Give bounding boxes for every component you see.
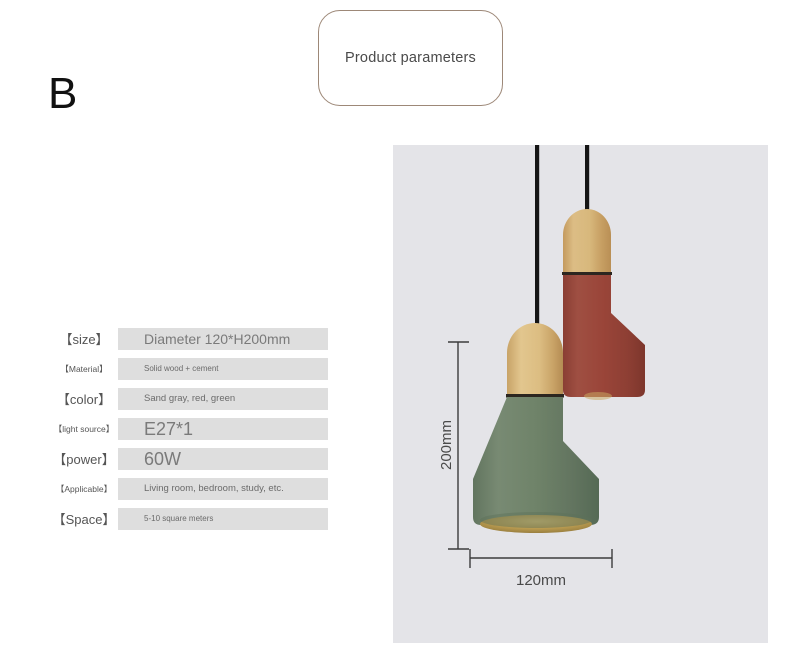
spec-value-color: Sand gray, red, green [144, 394, 235, 404]
red-lamp-reflector-hint [584, 392, 612, 400]
spec-value-bar: Living room, bedroom, study, etc. [118, 478, 328, 500]
spec-label-light-source: 【light source】 [50, 425, 118, 434]
table-row: 【Material】 Solid wood + cement [50, 358, 328, 380]
table-row: 【Applicable】 Living room, bedroom, study… [50, 478, 328, 500]
spec-label-material: 【Material】 [50, 365, 118, 374]
spec-value-bar: Diameter 120*H200mm [118, 328, 328, 350]
spec-value-size: Diameter 120*H200mm [144, 332, 290, 346]
section-letter: B [48, 72, 77, 116]
spec-value-space: 5-10 square meters [144, 515, 213, 523]
spec-value-bar: E27*1 [118, 418, 328, 440]
red-lamp-wood-cap [563, 209, 611, 273]
product-parameters-page: B Product parameters 【size】 Diameter 120… [0, 0, 800, 648]
table-row: 【size】 Diameter 120*H200mm [50, 328, 328, 350]
green-lamp-collar [506, 394, 564, 398]
table-row: 【power】 60W [50, 448, 328, 470]
spec-table: 【size】 Diameter 120*H200mm 【Material】 So… [50, 328, 328, 538]
spec-label-space: 【Space】 [50, 513, 118, 526]
spec-label-color: 【color】 [50, 393, 118, 406]
spec-value-bar: 60W [118, 448, 328, 470]
spec-value-power: 60W [144, 450, 181, 468]
product-photo-illustration: 200mm 120mm [393, 145, 768, 643]
spec-label-power: 【power】 [50, 453, 118, 466]
spec-value-bar: Sand gray, red, green [118, 388, 328, 410]
height-dimension-label: 200mm [438, 420, 455, 470]
page-title: Product parameters [345, 50, 476, 66]
width-dimension-label: 120mm [516, 572, 566, 589]
green-lamp-rim-shadow [480, 512, 592, 528]
green-lamp-wood-cap [507, 323, 563, 395]
spec-value-material: Solid wood + cement [144, 365, 219, 373]
table-row: 【light source】 E27*1 [50, 418, 328, 440]
spec-value-applicable: Living room, bedroom, study, etc. [144, 484, 284, 494]
product-parameters-header: Product parameters [318, 10, 503, 106]
spec-value-bar: Solid wood + cement [118, 358, 328, 380]
spec-label-size: 【size】 [50, 333, 118, 346]
spec-value-light-source: E27*1 [144, 420, 193, 438]
product-photo: 200mm 120mm [393, 145, 768, 643]
spec-label-applicable: 【Applicable】 [50, 485, 118, 494]
green-lamp-cord [535, 145, 539, 335]
table-row: 【Space】 5-10 square meters [50, 508, 328, 530]
table-row: 【color】 Sand gray, red, green [50, 388, 328, 410]
spec-value-bar: 5-10 square meters [118, 508, 328, 530]
red-lamp-collar [562, 272, 612, 275]
